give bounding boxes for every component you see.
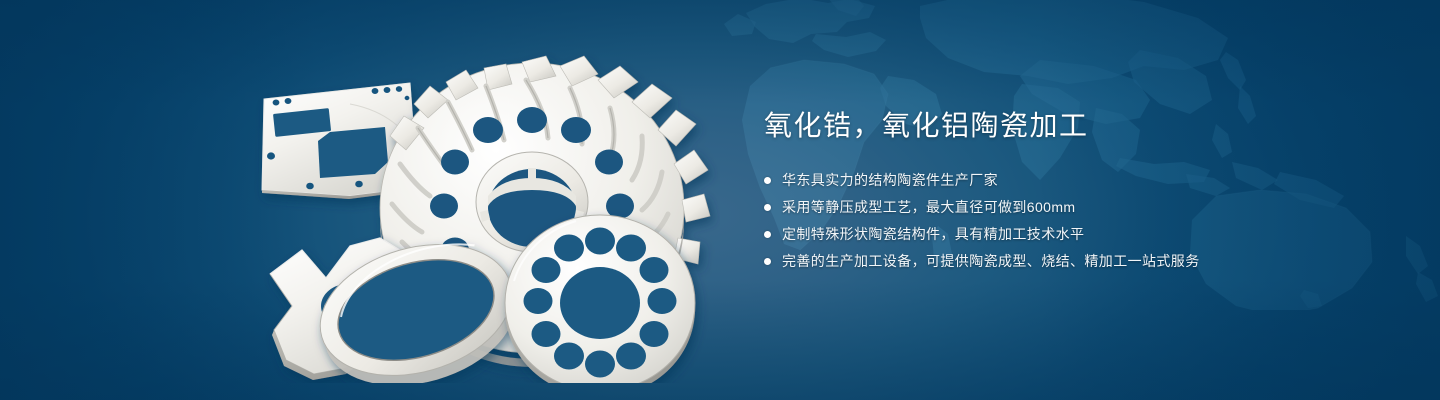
list-item: 华东具实力的结构陶瓷件生产厂家 <box>764 170 1364 190</box>
list-item-label: 完善的生产加工设备，可提供陶瓷成型、烧结、精加工一站式服务 <box>782 251 1200 271</box>
list-item-label: 华东具实力的结构陶瓷件生产厂家 <box>782 170 998 190</box>
white-ceramic-parts-photo <box>230 38 720 383</box>
banner-text-block: 氧化锆，氧化铝陶瓷加工 华东具实力的结构陶瓷件生产厂家 采用等静压成型工艺，最大… <box>764 108 1364 278</box>
bullet-dot-icon <box>764 204 771 211</box>
ceramic-perforated-disc <box>505 215 695 383</box>
bullet-dot-icon <box>764 177 771 184</box>
list-item-label: 采用等静压成型工艺，最大直径可做到600mm <box>782 197 1075 217</box>
bullet-dot-icon <box>764 258 771 265</box>
bullet-dot-icon <box>764 231 771 238</box>
list-item-label: 定制特殊形状陶瓷结构件，具有精加工技术水平 <box>782 224 1084 244</box>
feature-list: 华东具实力的结构陶瓷件生产厂家 采用等静压成型工艺，最大直径可做到600mm 定… <box>764 170 1364 271</box>
list-item: 采用等静压成型工艺，最大直径可做到600mm <box>764 197 1364 217</box>
list-item: 定制特殊形状陶瓷结构件，具有精加工技术水平 <box>764 224 1364 244</box>
list-item: 完善的生产加工设备，可提供陶瓷成型、烧结、精加工一站式服务 <box>764 251 1364 271</box>
page-title: 氧化锆，氧化铝陶瓷加工 <box>764 108 1364 144</box>
hero-banner: 氧化锆，氧化铝陶瓷加工 华东具实力的结构陶瓷件生产厂家 采用等静压成型工艺，最大… <box>0 0 1440 400</box>
